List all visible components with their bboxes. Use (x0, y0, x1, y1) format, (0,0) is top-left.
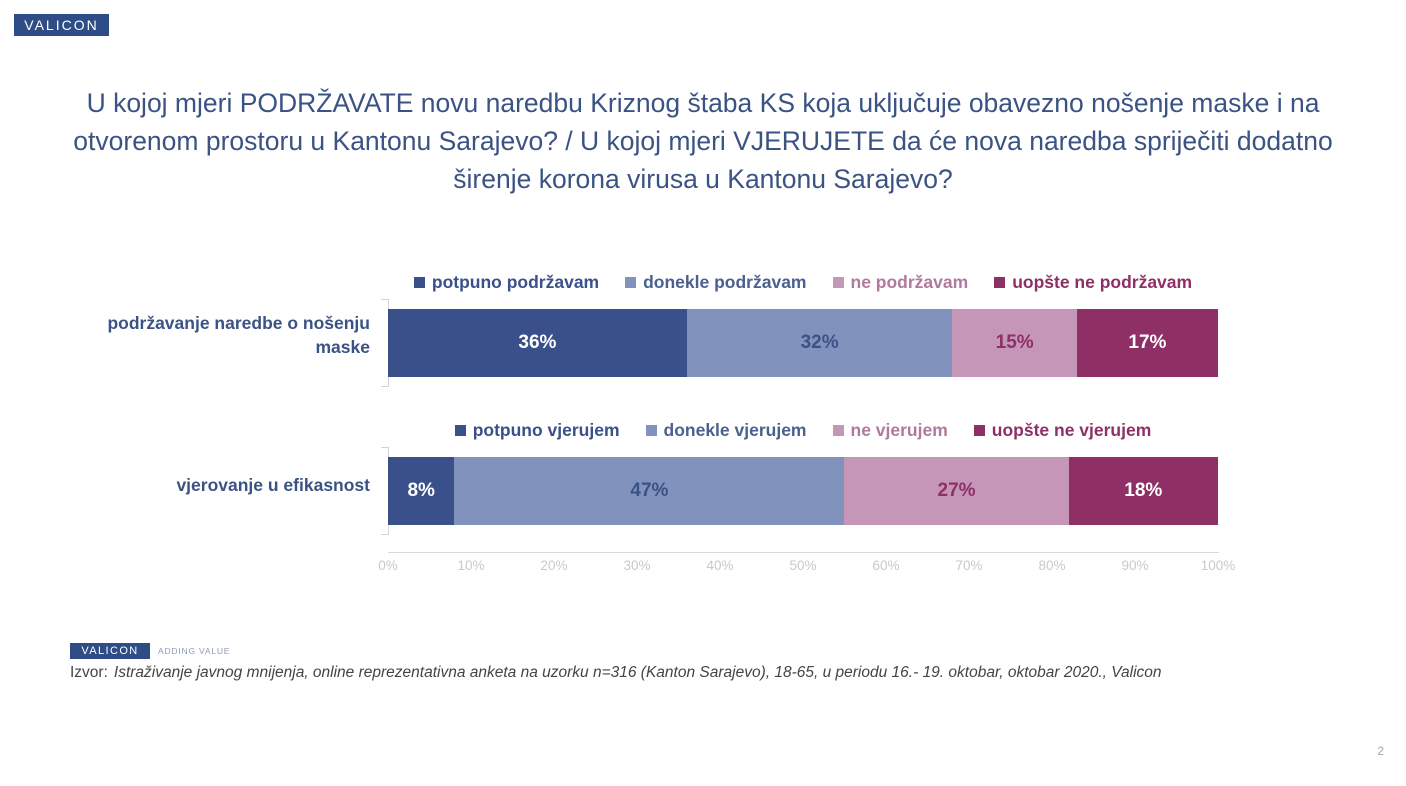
bar-segment[interactable]: 15% (952, 309, 1077, 377)
bar-segment[interactable]: 36% (388, 309, 687, 377)
legend-swatch-icon (646, 425, 657, 436)
bar-segment[interactable]: 27% (844, 457, 1068, 525)
legend-label: donekle podržavam (643, 272, 806, 293)
legend-label: potpuno podržavam (432, 272, 599, 293)
bar-segment[interactable]: 32% (687, 309, 953, 377)
bar-segment-value: 17% (1128, 332, 1166, 354)
panel2-axis-tick-top (381, 447, 388, 448)
source-label: Izvor: (70, 664, 108, 681)
legend-item[interactable]: ne vjerujem (833, 420, 948, 441)
legend-item[interactable]: potpuno vjerujem (455, 420, 620, 441)
legend-item[interactable]: potpuno podržavam (414, 272, 599, 293)
category-label-support: podržavanje naredbe o nošenju maske (100, 311, 370, 359)
bar-belief: 8% 47% 27% 18% (388, 457, 1218, 525)
x-tick-label: 60% (872, 558, 899, 573)
bar-segment[interactable]: 18% (1069, 457, 1218, 525)
legend-label: ne podržavam (851, 272, 969, 293)
category-label-belief: vjerovanje u efikasnost (100, 473, 370, 497)
bar-segment-value: 32% (801, 332, 839, 354)
x-tick-label: 100% (1201, 558, 1236, 573)
bar-segment-value: 36% (518, 332, 556, 354)
legend-item[interactable]: ne podržavam (833, 272, 969, 293)
bar-segment[interactable]: 8% (388, 457, 454, 525)
legend-label: uopšte ne vjerujem (992, 420, 1152, 441)
bar-segment-value: 47% (630, 480, 668, 502)
x-axis-line (388, 552, 1219, 553)
x-tick-label: 80% (1038, 558, 1065, 573)
bar-segment-value: 18% (1124, 480, 1162, 502)
x-axis-tick-labels: 0% 10% 20% 30% 40% 50% 60% 70% 80% 90% 1… (388, 558, 1218, 578)
x-tick-label: 20% (540, 558, 567, 573)
legend-swatch-icon (833, 277, 844, 288)
valicon-tagline: ADDING VALUE (158, 646, 230, 656)
x-tick-label: 50% (789, 558, 816, 573)
legend-swatch-icon (994, 277, 1005, 288)
x-tick-label: 30% (623, 558, 650, 573)
bar-segment-value: 27% (938, 480, 976, 502)
x-tick-label: 90% (1121, 558, 1148, 573)
bar-segment-value: 8% (407, 480, 434, 502)
x-tick-label: 0% (378, 558, 398, 573)
valicon-logo-footer: VALICON (70, 643, 150, 659)
panel1-axis-tick-bottom (381, 386, 388, 387)
valicon-logo-header: VALICON (14, 14, 109, 36)
stacked-bar-chart: potpuno podržavam donekle podržavam ne p… (0, 255, 1406, 585)
legend-swatch-icon (625, 277, 636, 288)
x-tick-label: 10% (457, 558, 484, 573)
valicon-logo-footer-text: VALICON (81, 645, 138, 657)
legend-support: potpuno podržavam donekle podržavam ne p… (388, 269, 1218, 295)
source-note: Izvor:Istraživanje javnog mnijenja, onli… (70, 664, 1370, 682)
legend-swatch-icon (455, 425, 466, 436)
source-text: Istraživanje javnog mnijenja, online rep… (114, 664, 1162, 681)
x-tick-label: 70% (955, 558, 982, 573)
legend-item[interactable]: uopšte ne vjerujem (974, 420, 1152, 441)
legend-swatch-icon (414, 277, 425, 288)
legend-label: ne vjerujem (851, 420, 948, 441)
bar-segment[interactable]: 17% (1077, 309, 1218, 377)
legend-item[interactable]: uopšte ne podržavam (994, 272, 1192, 293)
bar-segment[interactable]: 47% (454, 457, 844, 525)
page-title: U kojoj mjeri PODRŽAVATE novu naredbu Kr… (70, 84, 1336, 198)
panel2-axis-tick-bottom (381, 534, 388, 535)
legend-swatch-icon (974, 425, 985, 436)
legend-swatch-icon (833, 425, 844, 436)
legend-label: potpuno vjerujem (473, 420, 620, 441)
legend-item[interactable]: donekle podržavam (625, 272, 806, 293)
legend-label: uopšte ne podržavam (1012, 272, 1192, 293)
bar-segment-value: 15% (996, 332, 1034, 354)
bar-support: 36% 32% 15% 17% (388, 309, 1218, 377)
legend-label: donekle vjerujem (664, 420, 807, 441)
panel1-axis-tick-top (381, 299, 388, 300)
legend-item[interactable]: donekle vjerujem (646, 420, 807, 441)
legend-belief: potpuno vjerujem donekle vjerujem ne vje… (388, 417, 1218, 443)
valicon-logo-header-text: VALICON (24, 17, 98, 33)
x-tick-label: 40% (706, 558, 733, 573)
page-number: 2 (1377, 744, 1384, 758)
